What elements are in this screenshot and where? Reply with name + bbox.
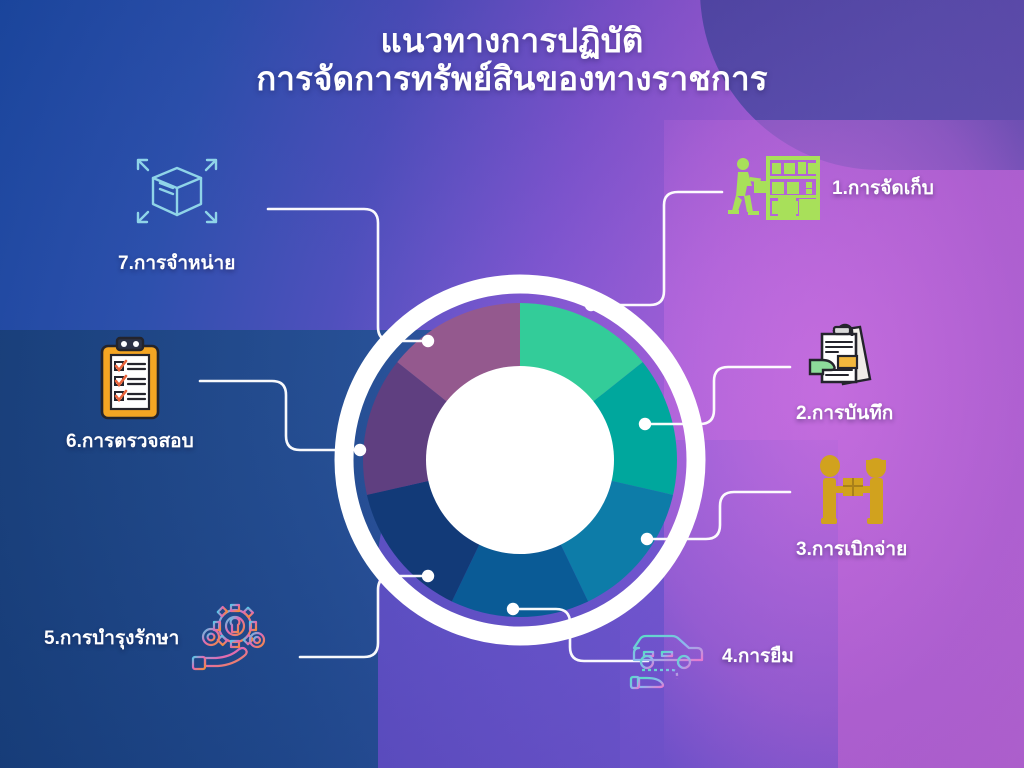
step-label-6: 6.การตรวจสอบ [66,426,194,456]
step-node-7[interactable]: 7.การจำหน่าย [118,142,235,278]
document-record-icon [808,318,882,392]
title-line-1: แนวทางการปฏิบัติ [0,22,1024,60]
infographic-canvas: แนวทางการปฏิบัติ การจัดการทรัพย์สินของทา… [0,0,1024,768]
step-label-3: 3.การเบิกจ่าย [796,534,907,564]
warehouse-worker-icon [726,155,822,221]
step-node-5[interactable]: 5.การบำรุงรักษา [44,600,273,676]
step-label-5: 5.การบำรุงรักษา [44,623,179,653]
title-line-2: การจัดการทรัพย์สินของทางราชการ [0,60,1024,98]
step-label-1: 1.การจัดเก็บ [832,173,934,203]
box-distribute-arrows-icon [124,142,230,238]
step-node-6[interactable]: 6.การตรวจสอบ [66,336,194,456]
handover-package-icon [810,452,894,530]
step-node-1[interactable]: 1.การจัดเก็บ [726,155,934,221]
step-node-3[interactable]: 3.การเบิกจ่าย [796,452,907,564]
step-label-2: 2.การบันทึก [796,398,893,428]
step-node-4[interactable]: 4.การยืม [628,618,794,694]
step-node-2[interactable]: 2.การบันทึก [796,318,893,428]
step-label-4: 4.การยืม [722,641,794,671]
step-label-7: 7.การจำหน่าย [118,248,235,278]
page-title: แนวทางการปฏิบัติ การจัดการทรัพย์สินของทา… [0,22,1024,97]
clipboard-checklist-icon [97,336,163,420]
car-borrow-icon [628,618,712,694]
gear-wrench-hand-icon [189,600,273,676]
